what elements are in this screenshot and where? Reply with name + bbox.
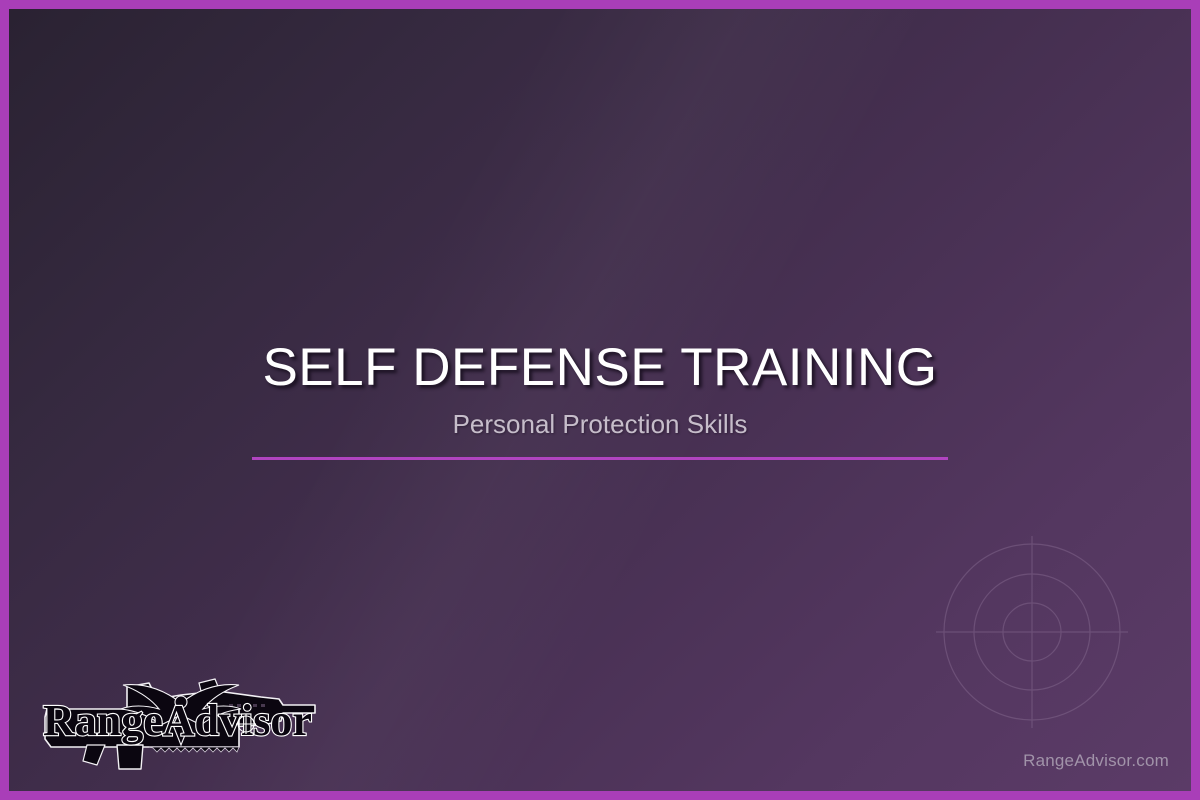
crosshair-target-icon xyxy=(932,532,1132,732)
presentation-slide: SELF DEFENSE TRAINING Personal Protectio… xyxy=(0,0,1200,800)
title-divider xyxy=(252,457,948,460)
brand-logo-text: RangeAdvisor xyxy=(43,696,312,745)
page-subtitle: Personal Protection Skills xyxy=(9,410,1191,439)
slide-canvas: SELF DEFENSE TRAINING Personal Protectio… xyxy=(9,9,1191,791)
brand-logo: RangeAdvisor xyxy=(31,669,317,773)
title-block: SELF DEFENSE TRAINING Personal Protectio… xyxy=(9,339,1191,460)
page-title: SELF DEFENSE TRAINING xyxy=(9,339,1191,396)
footer-url: RangeAdvisor.com xyxy=(1023,751,1169,771)
